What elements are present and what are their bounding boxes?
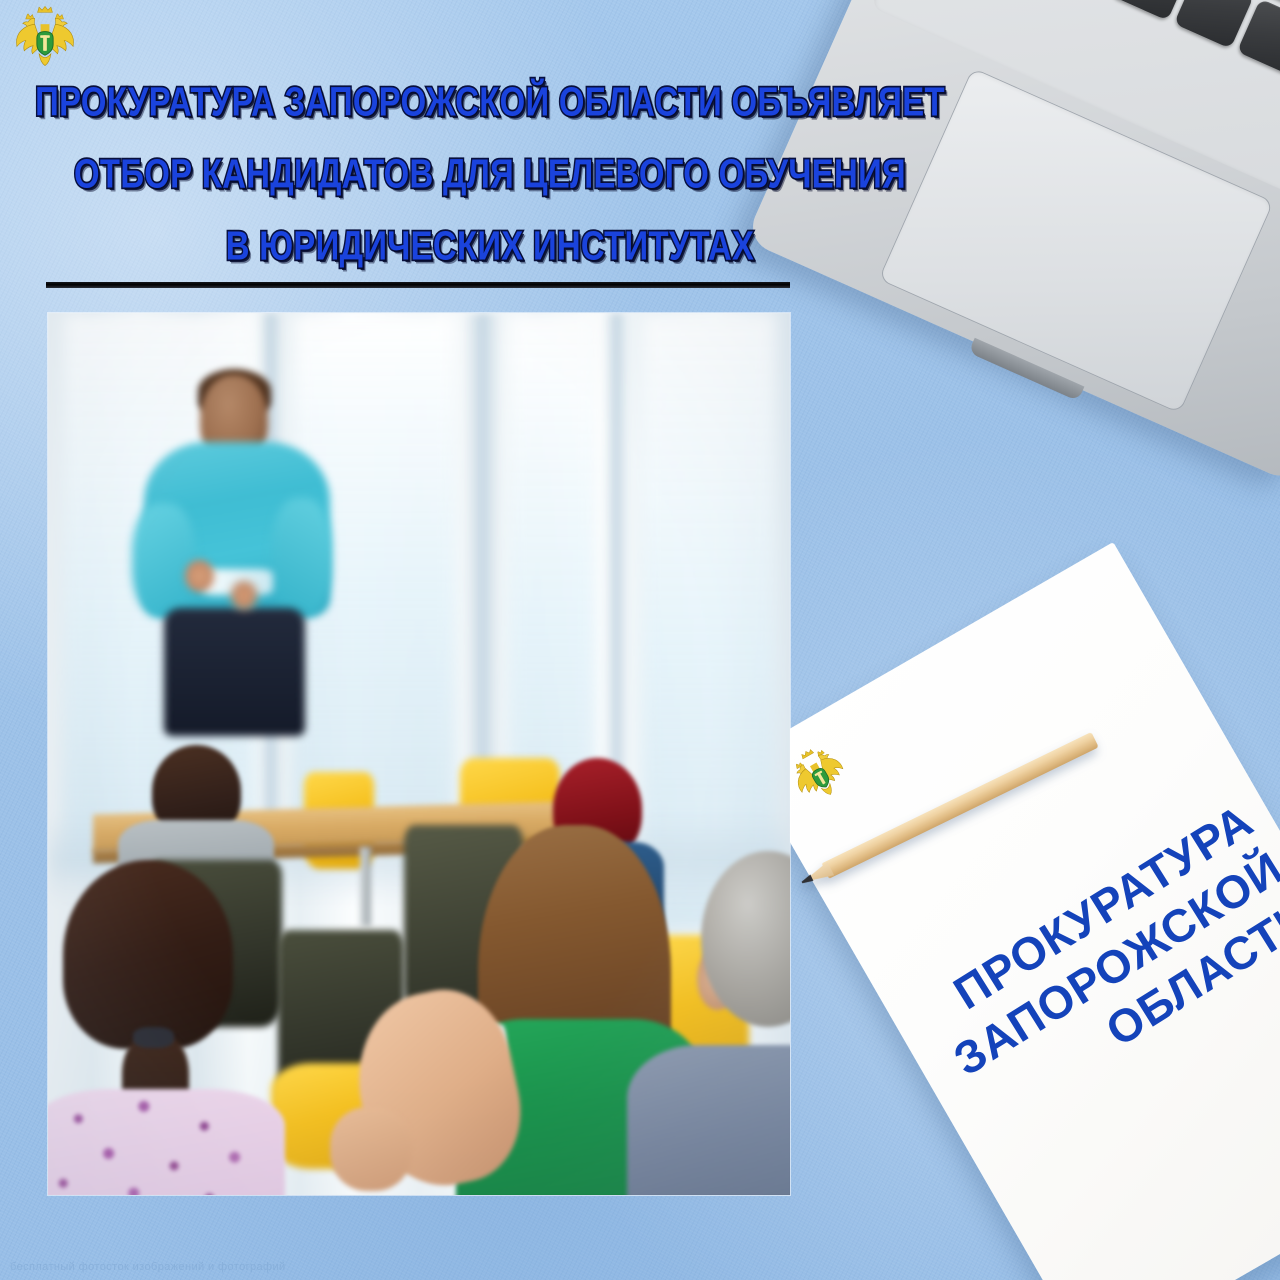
stock-watermark: бесплатный фотосток изображений и фотогр… <box>10 1261 286 1273</box>
title-line-3: В ЮРИДИЧЕСКИХ ИНСТИТУТАХ <box>0 225 1009 266</box>
lecturer-hand <box>185 560 215 592</box>
lecturer-arm-right <box>271 498 332 617</box>
table-leg <box>360 847 371 926</box>
classroom-photo <box>48 313 790 1195</box>
attendee-hair-tie <box>133 1027 174 1047</box>
classroom-photo-scene <box>48 313 790 1195</box>
lecturer-arm-left <box>132 503 195 618</box>
prosecutor-emblem-icon <box>6 2 84 76</box>
attendee-hand <box>330 1107 412 1191</box>
attendee-dark-hair <box>63 860 234 1050</box>
title-line-1: ПРОКУРАТУРА ЗАПОРОЖСКОЙ ОБЛАСТИ ОБЪЯВЛЯЕ… <box>0 81 1009 122</box>
attendee-gray-shirt <box>627 1045 790 1195</box>
poster-canvas: ПРОКУРАТУРА ЗАПОРОЖСКОЙ ОБЛАСТИ ОБЪЯВЛЯЕ… <box>0 0 1280 1280</box>
notepad-image: ПРОКУРАТУРА ЗАПОРОЖСКОЙ ОБЛАСТИ <box>741 542 1280 1280</box>
title-divider-rule <box>46 282 790 288</box>
lecturer-trousers <box>164 608 305 736</box>
title-line-2: ОТБОР КАНДИДАТОВ ДЛЯ ЦЕЛЕВОГО ОБУЧЕНИЯ <box>0 153 1009 194</box>
poster-title: ПРОКУРАТУРА ЗАПОРОЖСКОЙ ОБЛАСТИ ОБЪЯВЛЯЕ… <box>0 86 980 261</box>
attendee-floral-top <box>48 1089 285 1195</box>
